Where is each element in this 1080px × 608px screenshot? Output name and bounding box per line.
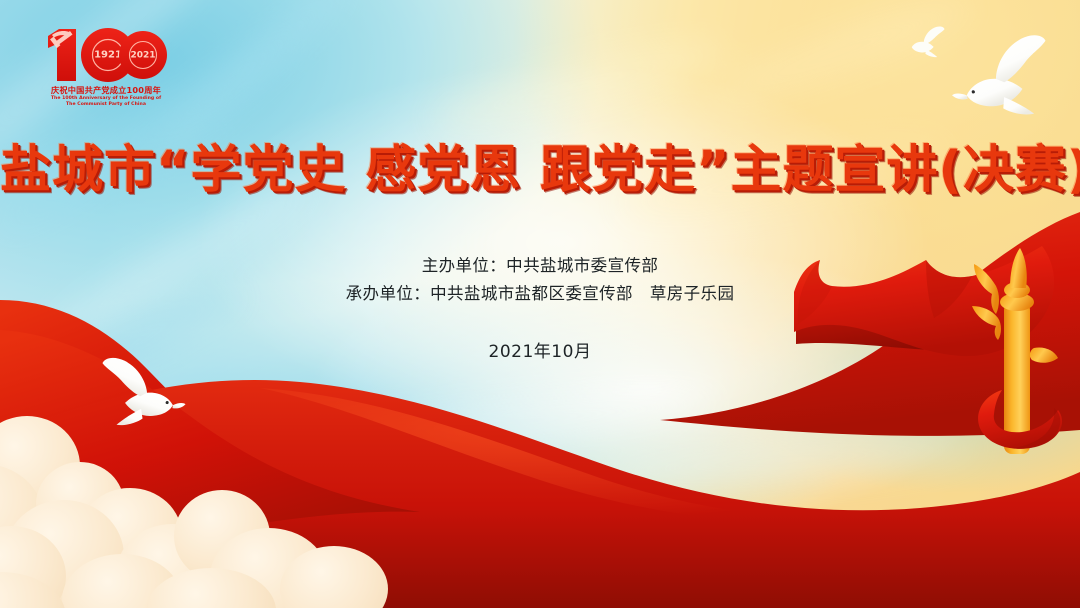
logo-caption-chinese: 庆祝中国共产党成立100周年 xyxy=(38,84,174,96)
logo-year-right: 2021 xyxy=(130,51,155,61)
logo-100-numeral: 1921 2021 xyxy=(44,22,168,84)
dove-top-right-small xyxy=(903,23,949,63)
poster-date: 2021年10月 xyxy=(0,337,1080,362)
poster-canvas: 1921 2021 庆祝中国共产党成立100周年 The 100th Anniv… xyxy=(0,0,1080,608)
organizer-block: 主办单位：中共盐城市委宣传部 承办单位：中共盐城市盐都区委宣传部 草房子乐园 xyxy=(0,252,1080,308)
dove-mid-left xyxy=(90,351,193,440)
logo-caption-en-1: The 100th Anniversary of the Founding of xyxy=(51,96,161,101)
auspicious-clouds xyxy=(0,376,396,608)
logo-year-left: 1921 xyxy=(94,50,122,61)
organizer-line-coordinator: 承办单位：中共盐城市盐都区委宣传部 草房子乐园 xyxy=(0,280,1080,308)
logo-caption-english-line1: The 100th Anniversary of the Founding of… xyxy=(38,96,174,108)
logo-caption-en-2: The Communist Party of China xyxy=(66,102,146,107)
organizer-line-host: 主办单位：中共盐城市委宣传部 xyxy=(0,252,1080,280)
cpc-100th-anniversary-logo: 1921 2021 庆祝中国共产党成立100周年 The 100th Anniv… xyxy=(38,22,174,122)
poster-title: 盐城市“学党史 感党恩 跟党走”主题宣讲(决赛) xyxy=(0,138,1080,204)
